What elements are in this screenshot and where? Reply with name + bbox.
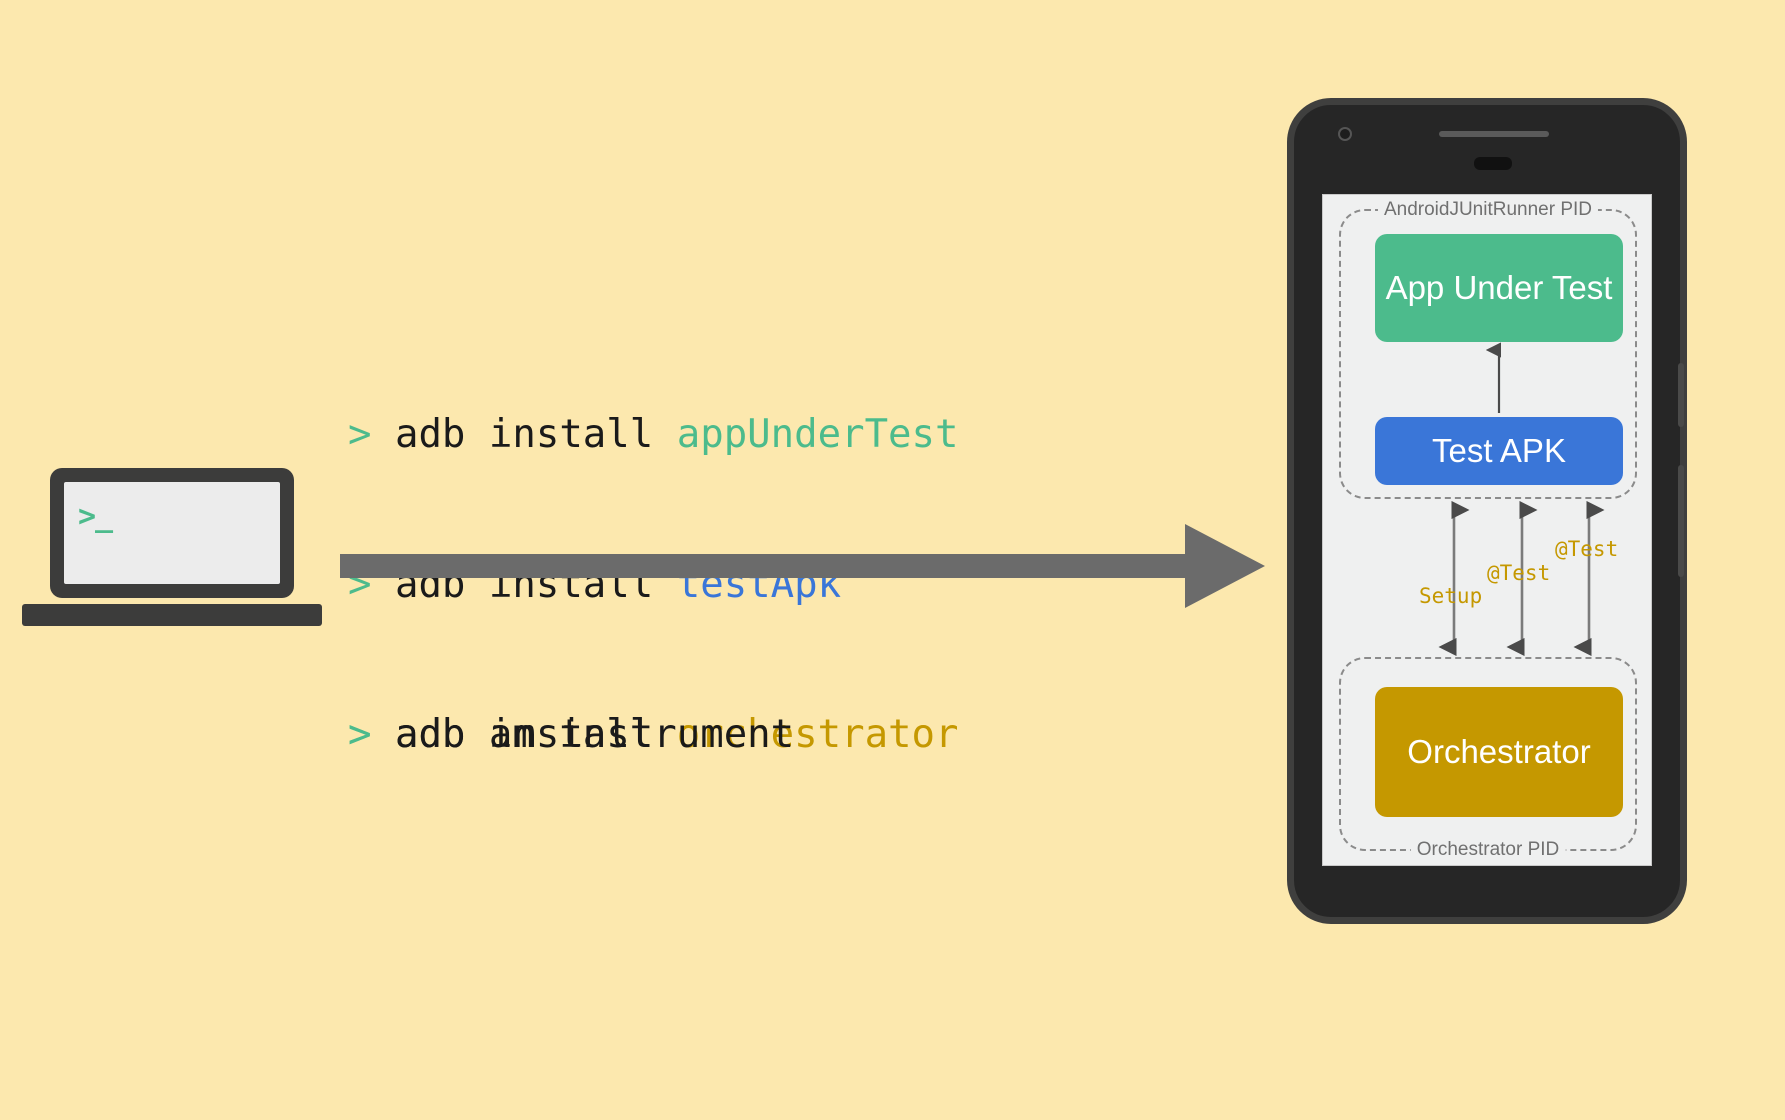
laptop-lid: >_ — [50, 468, 294, 598]
arrow-label-test-2: @Test — [1555, 538, 1618, 560]
command-prompt: > — [348, 712, 371, 757]
arrow-label-test-1: @Test — [1487, 562, 1550, 584]
instrument-command-block: > adb am instrument — [348, 610, 794, 860]
pid-group-label: Orchestrator PID — [1411, 840, 1566, 860]
command-argument: appUnderTest — [677, 412, 959, 457]
developer-workstation-illustration: >_ — [22, 468, 322, 628]
command-prompt: > — [348, 412, 371, 457]
box-orchestrator[interactable]: Orchestrator — [1375, 687, 1623, 817]
install-and-run-flow-arrow-icon — [340, 520, 1265, 612]
earpiece-speaker-icon — [1439, 131, 1549, 137]
arrow-label-setup: Setup — [1419, 585, 1482, 607]
phone-screen: AndroidJUnitRunner PID App Under Test Te… — [1322, 194, 1652, 866]
box-test-apk[interactable]: Test APK — [1375, 417, 1623, 485]
box-app-under-test[interactable]: App Under Test — [1375, 234, 1623, 342]
volume-button[interactable] — [1678, 465, 1684, 577]
diagram-canvas: >_ > adb install appUnderTest > adb inst… — [0, 0, 1785, 1120]
command-line: > adb install appUnderTest — [348, 410, 959, 460]
android-phone: AndroidJUnitRunner PID App Under Test Te… — [1287, 98, 1687, 924]
front-camera-icon — [1338, 127, 1352, 141]
box-app-under-test-label: App Under Test — [1386, 268, 1613, 308]
laptop-base — [22, 604, 322, 626]
box-orchestrator-label: Orchestrator — [1407, 732, 1590, 772]
power-button[interactable] — [1678, 363, 1684, 427]
command-line: > adb am instrument — [348, 710, 794, 760]
command-text: adb install — [395, 412, 677, 457]
proximity-sensor-icon — [1474, 157, 1512, 170]
box-test-apk-label: Test APK — [1432, 431, 1566, 471]
pid-group-label: AndroidJUnitRunner PID — [1378, 200, 1598, 220]
command-text: adb am instrument — [395, 712, 794, 757]
terminal-prompt-icon: >_ — [78, 502, 112, 532]
laptop-screen: >_ — [64, 482, 280, 584]
